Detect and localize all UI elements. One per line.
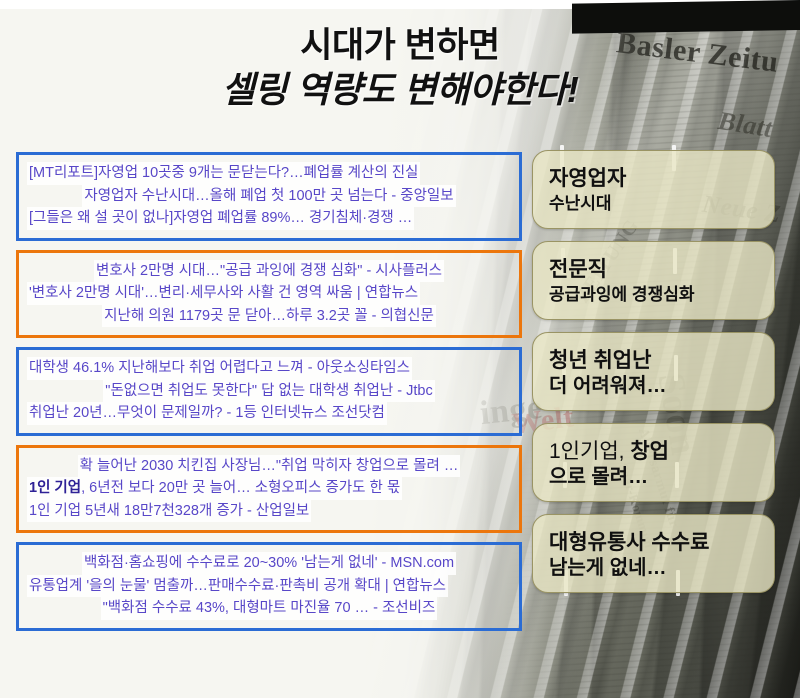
summary-panel: 대형유통사 수수료남는게 없네… <box>532 514 775 593</box>
news-box: 대학생 46.1% 지난해보다 취업 어렵다고 느껴 - 아웃소싱타임스"돈없으… <box>16 347 522 436</box>
news-headline-column: [MT리포트]자영업 10곳중 9개는 문닫는다?…폐업률 계산의 진실자영업자… <box>16 152 522 640</box>
news-headline: 백화점·홈쇼핑에 수수료로 20~30% '남는게 없네' - MSN.com <box>82 552 456 575</box>
news-headline: '변호사 2만명 시대'…변리·세무사와 사활 건 영역 싸움 | 연합뉴스 <box>27 282 420 305</box>
summary-panel: 전문직공급과잉에 경쟁심화 <box>532 241 775 320</box>
news-headline: 변호사 2만명 시대…"공급 과잉에 경쟁 심화" - 시사플러스 <box>94 260 444 283</box>
summary-panel-title-prefix: 1인기업, <box>549 440 630 463</box>
summary-panel-title: 전문직 <box>549 256 774 283</box>
summary-panel-subtitle: 수난시대 <box>549 192 774 216</box>
news-headline: [MT리포트]자영업 10곳중 9개는 문닫는다?…폐업률 계산의 진실 <box>27 162 420 185</box>
news-box: 백화점·홈쇼핑에 수수료로 20~30% '남는게 없네' - MSN.com유… <box>16 542 522 631</box>
slide-canvas: Basler Zeitu Blatt Neue Z Soon inge ZEIT… <box>0 0 800 698</box>
news-headline: [그들은 왜 설 곳이 없나]자영업 폐업률 89%… 경기침체·경쟁 … <box>27 207 414 230</box>
news-headline: 1인 기업, 6년전 보다 20만 곳 늘어… 소형오피스 증가도 한 몫 <box>27 477 402 500</box>
summary-panel-title: 자영업자 <box>549 165 774 192</box>
title-line-2: 셀링 역량도 변해야한다! <box>0 68 800 112</box>
news-headline: 자영업자 수난시대…올해 폐업 첫 100만 곳 넘는다 - 중앙일보 <box>82 185 455 208</box>
summary-panel-title: 청년 취업난 <box>549 347 774 374</box>
news-box: [MT리포트]자영업 10곳중 9개는 문닫는다?…폐업률 계산의 진실자영업자… <box>16 152 522 241</box>
news-headline-text: , 6년전 보다 20만 곳 늘어… 소형오피스 증가도 한 몫 <box>81 480 400 496</box>
summary-panel: 1인기업, 창업으로 몰려… <box>532 423 775 502</box>
summary-panel-title-strong: 창업 <box>630 440 669 463</box>
summary-panel: 청년 취업난더 어려워져… <box>532 332 775 411</box>
summary-panel-subtitle: 공급과잉에 경쟁심화 <box>549 283 774 307</box>
news-headline: 지난해 의원 1179곳 문 닫아…하루 3.2곳 꼴 - 의협신문 <box>102 305 436 328</box>
news-headline: "백화점 수수료 43%, 대형마트 마진율 70 … - 조선비즈 <box>101 597 438 620</box>
news-headline: 유통업계 '을의 눈물' 멈출까…판매수수료·판촉비 공개 확대 | 연합뉴스 <box>27 575 448 598</box>
summary-panel-subtitle: 으로 몰려… <box>549 465 774 489</box>
news-box: 확 늘어난 2030 치킨집 사장님…"취업 막히자 창업으로 몰려 …1인 기… <box>16 445 522 534</box>
news-headline: 대학생 46.1% 지난해보다 취업 어렵다고 느껴 - 아웃소싱타임스 <box>27 357 412 380</box>
news-headline: 취업난 20년…무엇이 문제일까? - 1등 인터넷뉴스 조선닷컴 <box>27 402 387 425</box>
summary-panel-subtitle: 남는게 없네… <box>549 556 774 580</box>
news-headline: 확 늘어난 2030 치킨집 사장님…"취업 막히자 창업으로 몰려 … <box>78 455 461 478</box>
summary-panel-column: 자영업자수난시대전문직공급과잉에 경쟁심화청년 취업난더 어려워져…1인기업, … <box>532 150 778 605</box>
summary-panel-subtitle: 더 어려워져… <box>549 374 774 398</box>
summary-panel: 자영업자수난시대 <box>532 150 775 229</box>
news-headline: "돈없으면 취업도 못한다" 답 없는 대학생 취업난 - Jtbc <box>103 380 434 403</box>
news-headline: 1인 기업 5년새 18만7천328개 증가 - 산업일보 <box>27 500 311 523</box>
slide-title: 시대가 변하면 셀링 역량도 변해야한다! <box>0 24 800 112</box>
news-headline-emphasis: 1인 기업 <box>29 480 81 496</box>
title-line-1: 시대가 변하면 <box>0 24 800 68</box>
news-box: 변호사 2만명 시대…"공급 과잉에 경쟁 심화" - 시사플러스'변호사 2만… <box>16 250 522 339</box>
summary-panel-title: 대형유통사 수수료 <box>549 529 774 556</box>
summary-panel-title: 1인기업, 창업 <box>549 438 774 465</box>
